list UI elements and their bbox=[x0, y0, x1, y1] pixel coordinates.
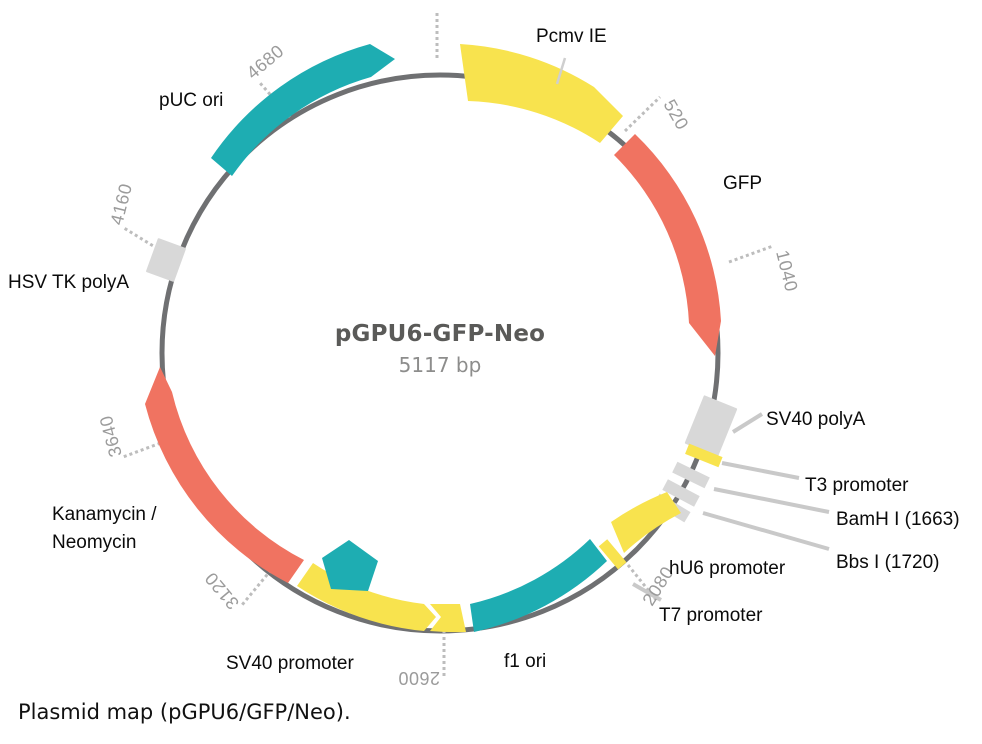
feature-gfp-shape[interactable] bbox=[614, 134, 721, 356]
tick-label-3640: 3640 bbox=[96, 413, 126, 459]
tick-1040 bbox=[729, 246, 773, 262]
plasmid-size: 5117 bp bbox=[399, 353, 482, 377]
tick-label-4160: 4160 bbox=[106, 181, 136, 227]
label-gfp: GFP bbox=[723, 173, 762, 194]
feature-teal-pentagon-shape[interactable] bbox=[322, 540, 378, 591]
feature-pcmv-ie[interactable] bbox=[460, 44, 623, 143]
label-pcmv-ie: Pcmv IE bbox=[536, 26, 607, 47]
tick-label-2600: 2600 bbox=[398, 668, 440, 688]
tick-3120 bbox=[242, 570, 271, 605]
tick-label-4680: 4680 bbox=[243, 41, 288, 83]
leader-sv40-polya bbox=[733, 414, 762, 432]
label-hu6-promoter: hU6 promoter bbox=[669, 558, 786, 579]
label-f1-ori: f1 ori bbox=[504, 651, 546, 672]
center-title-group: pGPU6-GFP-Neo 5117 bp bbox=[335, 321, 545, 377]
plasmid-map-figure: 520 1040 2080 2600 3120 3640 4160 4680 P… bbox=[0, 0, 982, 744]
feature-pcmv-ie-shape[interactable] bbox=[460, 44, 623, 143]
leader-bbsi bbox=[703, 513, 829, 549]
tick-label-3120: 3120 bbox=[201, 568, 243, 613]
feature-f1-ori-shape[interactable] bbox=[470, 539, 607, 632]
label-hsv-tk-polya: HSV TK polyA bbox=[8, 272, 129, 293]
feature-kanamycin-neomycin[interactable] bbox=[145, 367, 304, 584]
feature-sv40-promoter-arrow-small[interactable] bbox=[430, 604, 466, 632]
feature-kanamycin-neomycin-shape[interactable] bbox=[145, 367, 304, 583]
leader-t3-promoter bbox=[722, 463, 799, 478]
feature-hu6-promoter[interactable] bbox=[611, 492, 681, 553]
label-sv40-polya: SV40 polyA bbox=[766, 409, 866, 430]
label-puc-ori: pUC ori bbox=[159, 90, 223, 111]
label-kanamycin-neomycin-line2: Neomycin bbox=[52, 532, 136, 553]
label-bamhi: BamH I (1663) bbox=[836, 509, 960, 530]
label-kanamycin-neomycin-line1: Kanamycin / bbox=[52, 504, 157, 525]
feature-t3-promoter-shape[interactable] bbox=[672, 462, 710, 489]
label-t3-promoter: T3 promoter bbox=[805, 475, 909, 496]
feature-t3-promoter[interactable] bbox=[672, 462, 710, 489]
feature-gfp[interactable] bbox=[614, 134, 721, 356]
label-t7-promoter: T7 promoter bbox=[659, 605, 763, 626]
label-sv40-promoter: SV40 promoter bbox=[226, 653, 354, 674]
feature-sv40-promoter[interactable] bbox=[297, 563, 466, 632]
feature-teal-pentagon[interactable] bbox=[322, 540, 378, 591]
feature-f1-ori[interactable] bbox=[470, 539, 607, 632]
label-bbsi: Bbs I (1720) bbox=[836, 552, 940, 573]
tick-label-520: 520 bbox=[660, 96, 693, 133]
tick-label-1040: 1040 bbox=[772, 248, 802, 294]
plasmid-map-svg: 520 1040 2080 2600 3120 3640 4160 4680 P… bbox=[0, 0, 982, 744]
plasmid-name: pGPU6-GFP-Neo bbox=[335, 321, 545, 347]
figure-caption: Plasmid map (pGPU6/GFP/Neo). bbox=[18, 700, 351, 724]
tick-520 bbox=[625, 97, 660, 131]
feature-name-labels: Pcmv IE GFP SV40 polyA T3 promoter BamH … bbox=[8, 26, 960, 674]
feature-hu6-promoter-shape[interactable] bbox=[611, 492, 681, 553]
